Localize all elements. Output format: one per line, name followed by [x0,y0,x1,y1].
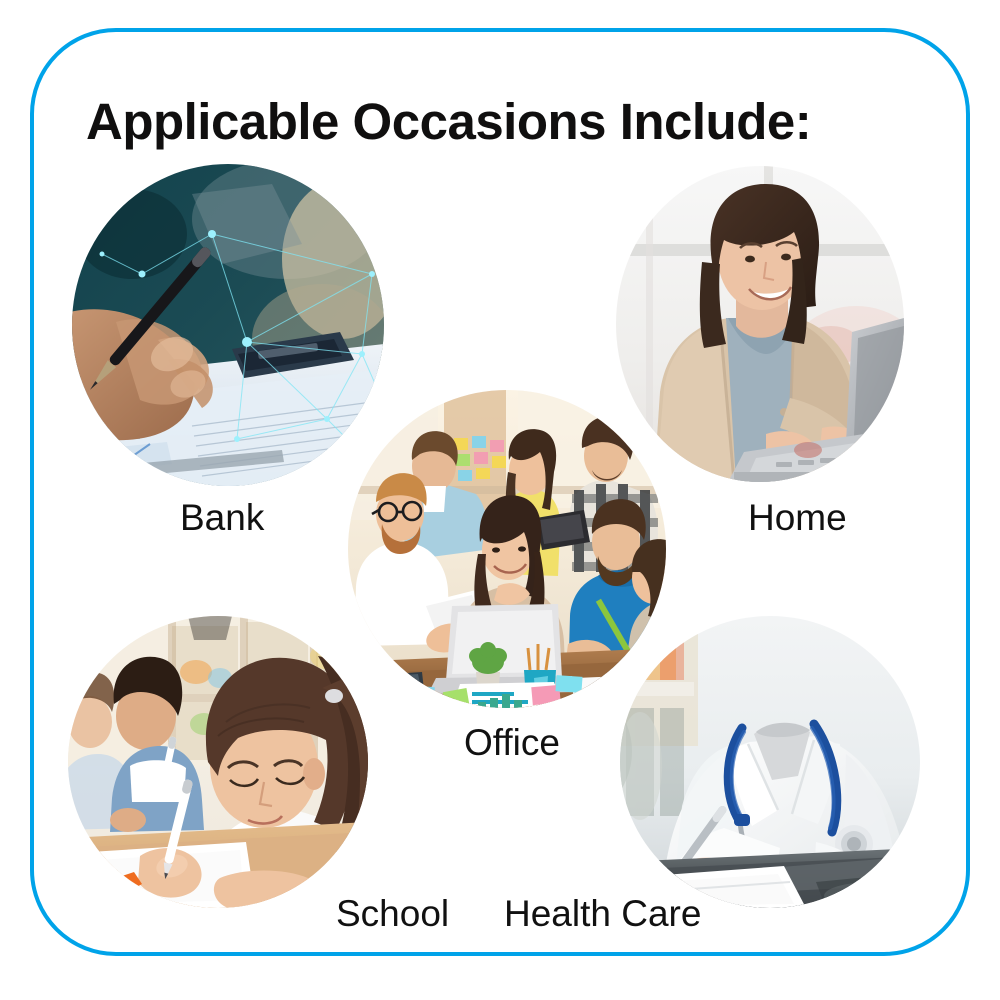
occasion-image-school [68,616,368,908]
occasion-label-bank: Bank [180,497,264,539]
occasion-label-health-care: Health Care [504,893,701,935]
occasion-label-office: Office [464,722,560,764]
occasion-image-health-care [620,616,920,908]
promo-banner: Applicable Occasions Include: [0,0,1000,1000]
occasion-image-home [616,166,904,482]
occasion-label-school: School [336,893,449,935]
occasion-label-home: Home [748,497,847,539]
occasion-image-bank [72,164,384,486]
page-title: Applicable Occasions Include: [86,92,811,151]
occasion-image-office [348,390,666,708]
